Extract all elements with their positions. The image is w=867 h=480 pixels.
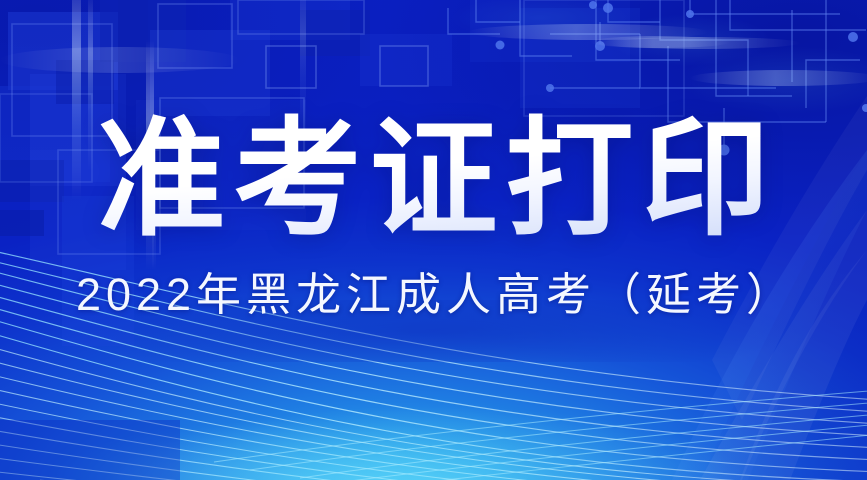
subtitle-glow	[40, 300, 827, 362]
promo-banner: 准考证打印 2022年黑龙江成人高考（延考）	[0, 0, 867, 480]
decor-bottom-left-wash	[0, 420, 180, 480]
decorative-graphics	[0, 0, 867, 480]
